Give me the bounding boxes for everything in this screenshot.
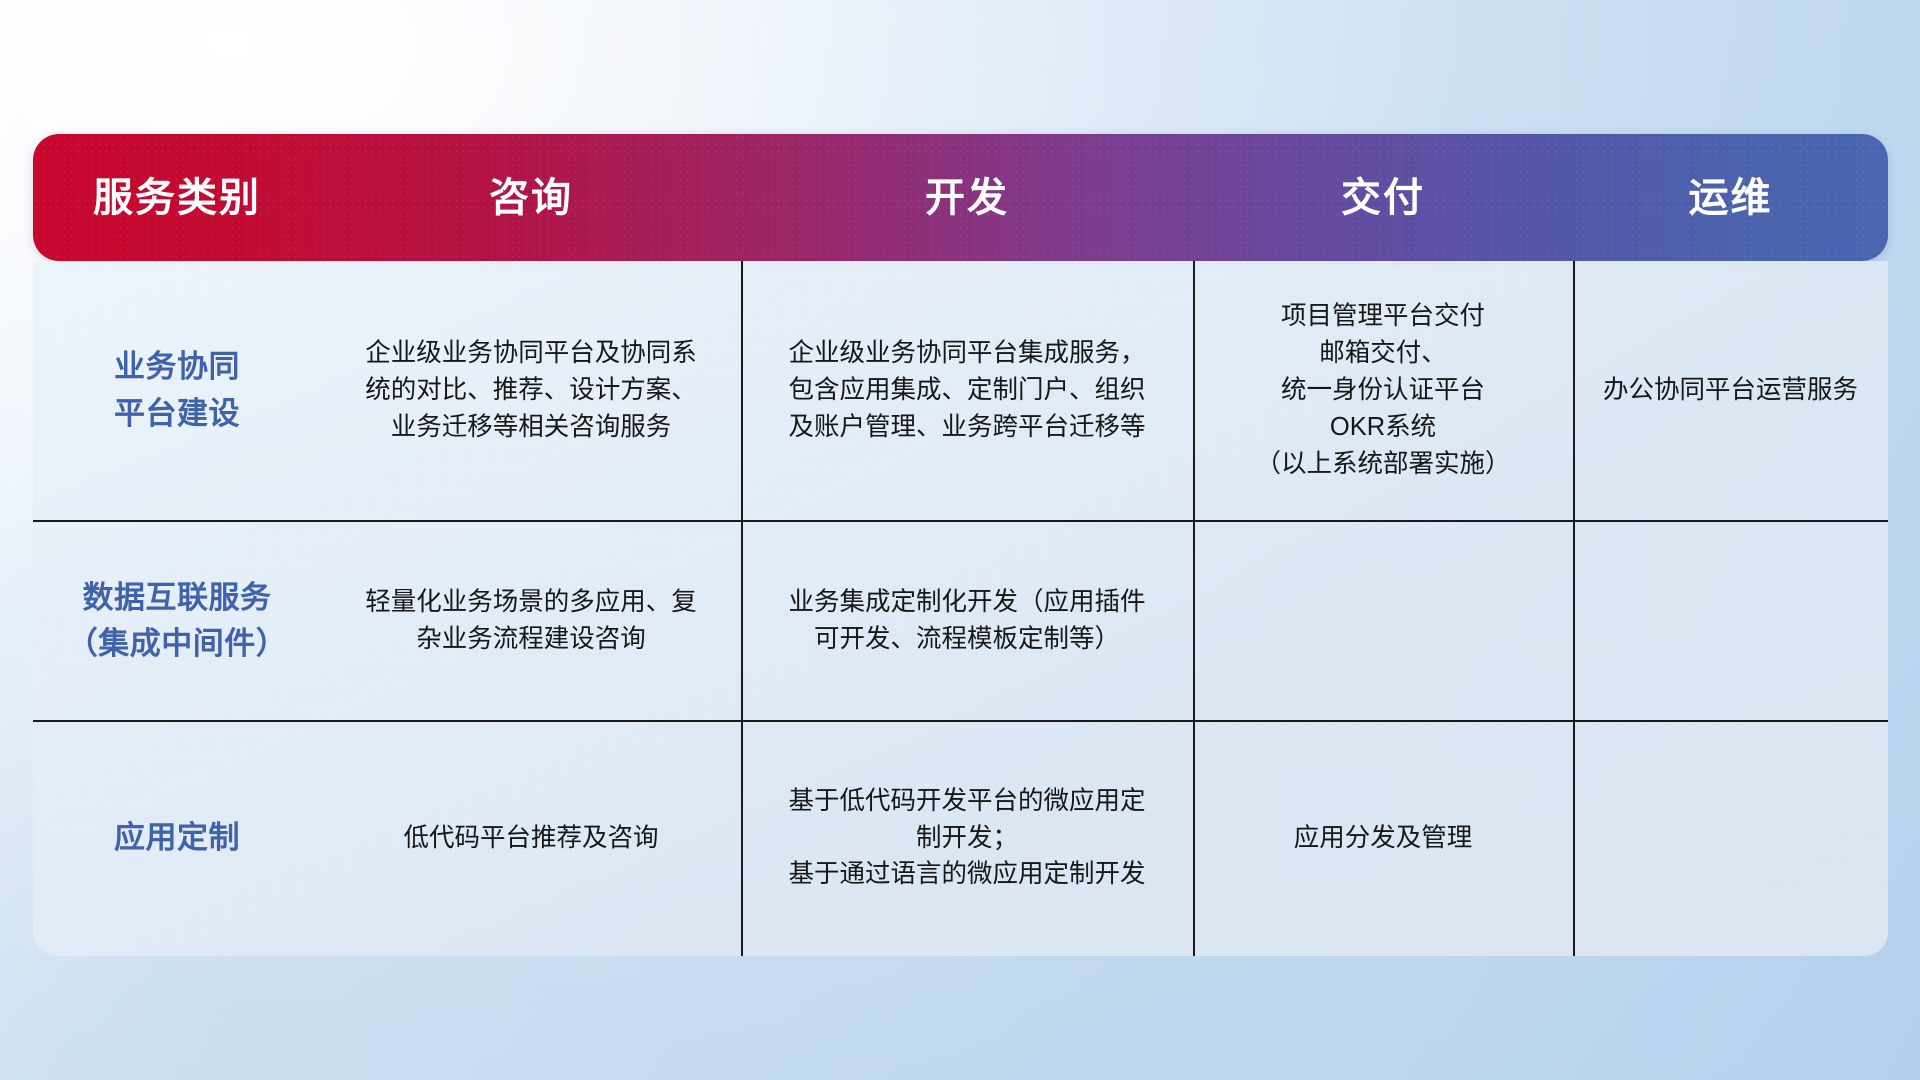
cell-operations bbox=[1573, 722, 1888, 954]
cell-operations bbox=[1573, 522, 1888, 720]
cell-category: 应用定制 bbox=[33, 722, 321, 954]
cell-category: 业务协同 平台建设 bbox=[33, 261, 321, 520]
cell-development: 业务集成定制化开发（应用插件 可开发、流程模板定制等） bbox=[741, 522, 1193, 720]
cell-development: 企业级业务协同平台集成服务， 包含应用集成、定制门户、组织 及账户管理、业务跨平… bbox=[741, 261, 1193, 520]
header-cell-operations: 运维 bbox=[1573, 178, 1888, 218]
cell-development: 基于低代码开发平台的微应用定 制开发； 基于通过语言的微应用定制开发 bbox=[741, 722, 1193, 954]
cell-delivery bbox=[1193, 522, 1573, 720]
header-cell-development: 开发 bbox=[741, 178, 1193, 218]
table-body: 业务协同 平台建设 企业级业务协同平台及协同系 统的对比、推荐、设计方案、 业务… bbox=[33, 261, 1888, 956]
service-matrix-table: 服务类别 咨询 开发 交付 运维 业务协同 平台建设 企业级业务协同平台及协同系… bbox=[33, 134, 1888, 956]
cell-consulting: 低代码平台推荐及咨询 bbox=[321, 722, 741, 954]
header-cell-consulting: 咨询 bbox=[321, 178, 741, 218]
cell-consulting: 轻量化业务场景的多应用、复 杂业务流程建设咨询 bbox=[321, 522, 741, 720]
table-header-row: 服务类别 咨询 开发 交付 运维 bbox=[33, 134, 1888, 261]
header-cell-delivery: 交付 bbox=[1193, 178, 1573, 218]
table-row: 应用定制 低代码平台推荐及咨询 基于低代码开发平台的微应用定 制开发； 基于通过… bbox=[33, 720, 1888, 954]
cell-category: 数据互联服务 （集成中间件） bbox=[33, 522, 321, 720]
cell-delivery: 应用分发及管理 bbox=[1193, 722, 1573, 954]
table-row: 数据互联服务 （集成中间件） 轻量化业务场景的多应用、复 杂业务流程建设咨询 业… bbox=[33, 520, 1888, 720]
table-row: 业务协同 平台建设 企业级业务协同平台及协同系 统的对比、推荐、设计方案、 业务… bbox=[33, 261, 1888, 520]
cell-operations: 办公协同平台运营服务 bbox=[1573, 261, 1888, 520]
cell-consulting: 企业级业务协同平台及协同系 统的对比、推荐、设计方案、 业务迁移等相关咨询服务 bbox=[321, 261, 741, 520]
cell-delivery: 项目管理平台交付 邮箱交付、 统一身份认证平台 OKR系统 （以上系统部署实施） bbox=[1193, 261, 1573, 520]
header-cell-service-category: 服务类别 bbox=[33, 178, 321, 218]
